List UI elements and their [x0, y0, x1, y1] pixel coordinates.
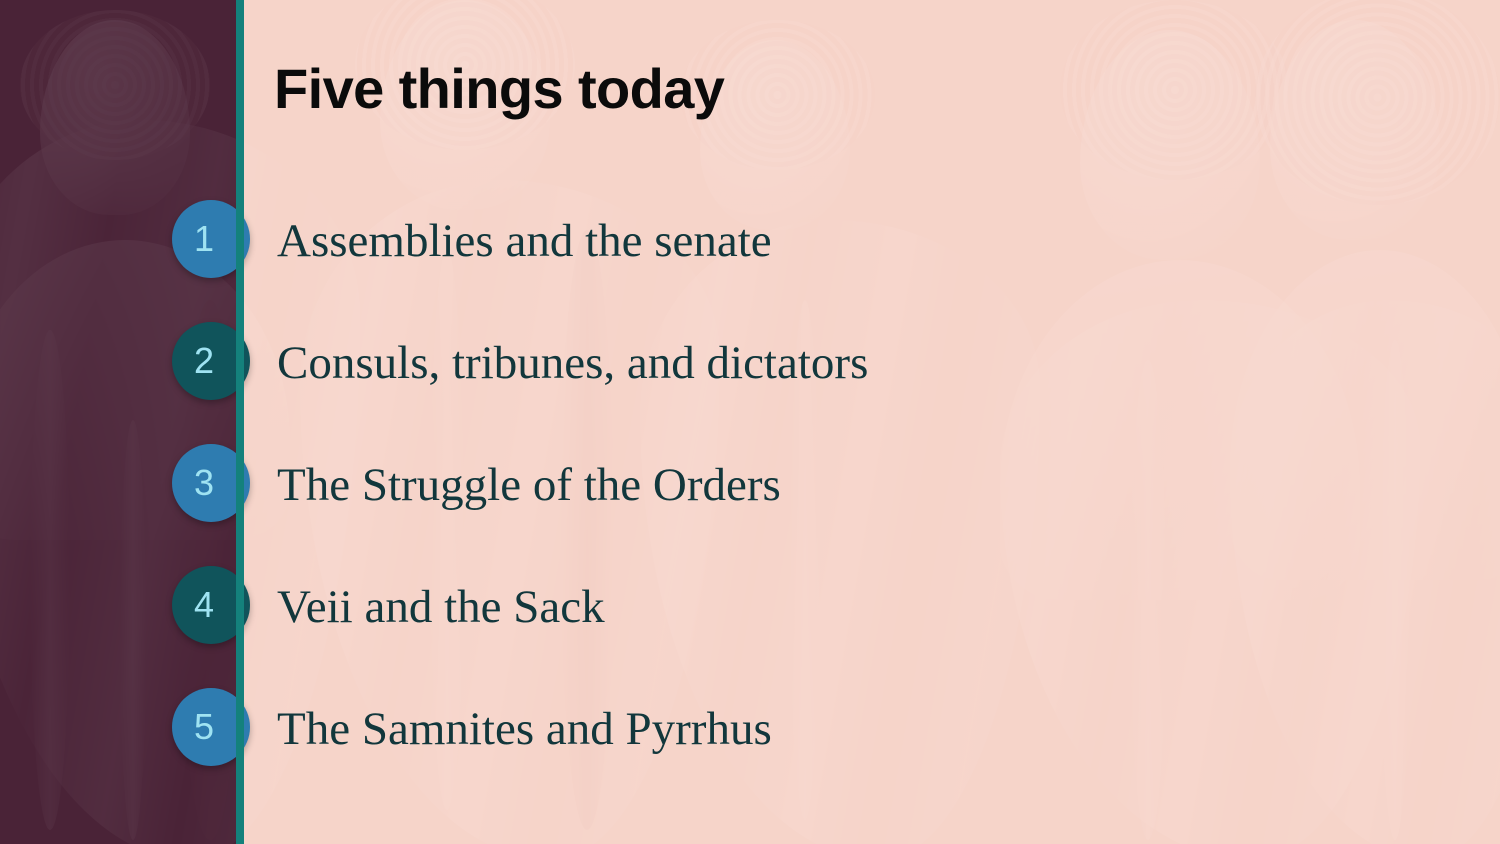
list-item[interactable]: 2 Consuls, tribunes, and dictators	[0, 322, 1500, 402]
list-item-label: The Struggle of the Orders	[277, 446, 781, 524]
agenda-list: 1 Assemblies and the senate 2 Consuls, t…	[0, 0, 1500, 844]
bullet-number-label: 5	[194, 706, 214, 748]
list-item-label: The Samnites and Pyrrhus	[277, 690, 772, 768]
list-item[interactable]: 5 The Samnites and Pyrrhus	[0, 688, 1500, 768]
slide-root: Five things today 1 Assemblies and the s…	[0, 0, 1500, 844]
bullet-number-label: 3	[194, 462, 214, 504]
page-title: Five things today	[274, 56, 724, 121]
bullet-number-label: 1	[194, 218, 214, 260]
bullet-number-label: 2	[194, 340, 214, 382]
bullet-number-label: 4	[194, 584, 214, 626]
list-item-label: Consuls, tribunes, and dictators	[277, 324, 868, 402]
vertical-divider	[236, 0, 244, 844]
list-item-label: Veii and the Sack	[277, 568, 605, 646]
list-item-label: Assemblies and the senate	[277, 202, 772, 280]
list-item[interactable]: 4 Veii and the Sack	[0, 566, 1500, 646]
list-item[interactable]: 1 Assemblies and the senate	[0, 200, 1500, 280]
list-item[interactable]: 3 The Struggle of the Orders	[0, 444, 1500, 524]
